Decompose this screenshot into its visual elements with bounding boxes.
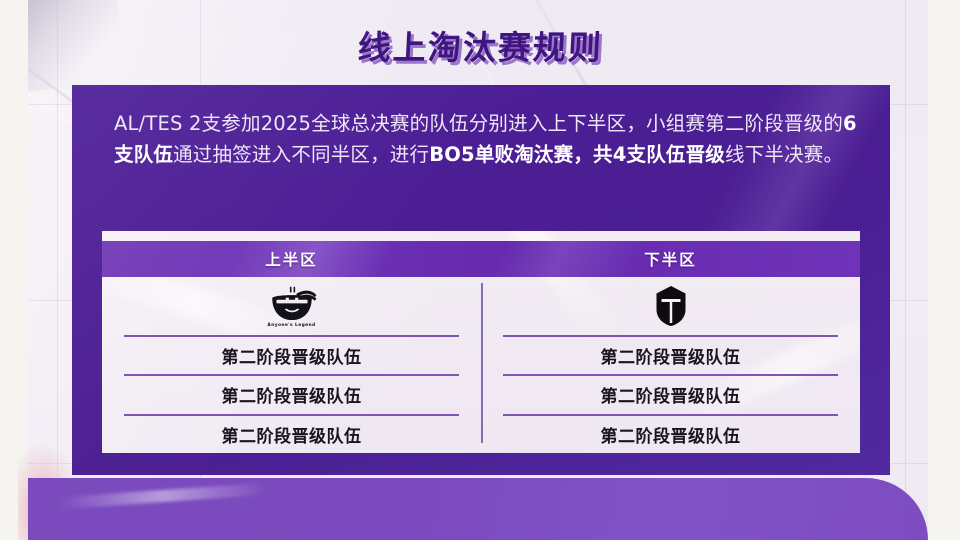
bracket-header-lower: 下半区 [481,241,860,277]
rules-text-run: 通过抽签进入不同半区，进行 [173,143,429,166]
al-team-logo-caption: Anyone's Legend [266,323,318,328]
bracket-row-upper-2: 第二阶段晋级队伍 [124,374,459,413]
column-divider [481,283,483,443]
bracket-row-upper-3: 第二阶段晋级队伍 [124,414,459,453]
bracket-row-lower-3: 第二阶段晋级队伍 [503,414,838,453]
seed-team-cell-upper: Anyone's Legend [124,277,459,335]
bracket-row-label: 第二阶段晋级队伍 [601,422,741,447]
bracket-header-upper: 上半区 [102,241,481,277]
seed-team-cell-lower [503,277,838,335]
bracket-header-upper-label: 上半区 [265,248,318,270]
bracket-row-label: 第二阶段晋级队伍 [222,343,362,368]
paper-seam [905,0,906,540]
rules-paragraph: AL/TES 2支参加2025全球总决赛的队伍分别进入上下半区，小组赛第二阶段晋… [114,108,860,170]
slide-canvas: 线上淘汰赛规则 AL/TES 2支参加2025全球总决赛的队伍分别进入上下半区，… [0,0,960,540]
bracket-row-lower-1: 第二阶段晋级队伍 [503,335,838,374]
bracket-table: 上半区 下半区 [102,231,860,453]
bracket-row-label: 第二阶段晋级队伍 [222,422,362,447]
al-team-logo: Anyone's Legend [266,285,318,327]
page-title: 线上淘汰赛规则 [356,21,604,69]
bracket-column-lower: 第二阶段晋级队伍 第二阶段晋级队伍 第二阶段晋级队伍 [481,277,860,453]
bracket-columns: Anyone's Legend 第二阶段晋级队伍 第二阶段晋级队伍 第二阶段晋级… [102,277,860,453]
bracket-row-label: 第二阶段晋级队伍 [601,343,741,368]
bottom-band-highlight [58,483,268,510]
bottom-accent-band [28,478,928,540]
rules-panel: AL/TES 2支参加2025全球总决赛的队伍分别进入上下半区，小组赛第二阶段晋… [72,85,890,475]
page-title-container: 线上淘汰赛规则 [0,21,960,69]
bracket-row-label: 第二阶段晋级队伍 [222,382,362,407]
rules-text-emphasis: BO5单败淘汰赛，共4支队伍晋级 [429,143,725,166]
page-margin-right [928,0,960,540]
rules-text-run: 线下半决赛。 [725,143,843,166]
tes-team-logo [654,285,688,327]
bracket-row-lower-2: 第二阶段晋级队伍 [503,374,838,413]
bracket-row-upper-1: 第二阶段晋级队伍 [124,335,459,374]
bracket-column-upper: Anyone's Legend 第二阶段晋级队伍 第二阶段晋级队伍 第二阶段晋级… [102,277,481,453]
bracket-header-lower-label: 下半区 [644,248,697,270]
bracket-header-band: 上半区 下半区 [102,241,860,277]
bracket-row-label: 第二阶段晋级队伍 [601,382,741,407]
rules-text-run: AL/TES 2支参加2025全球总决赛的队伍分别进入上下半区，小组赛第二阶段晋… [114,112,843,135]
